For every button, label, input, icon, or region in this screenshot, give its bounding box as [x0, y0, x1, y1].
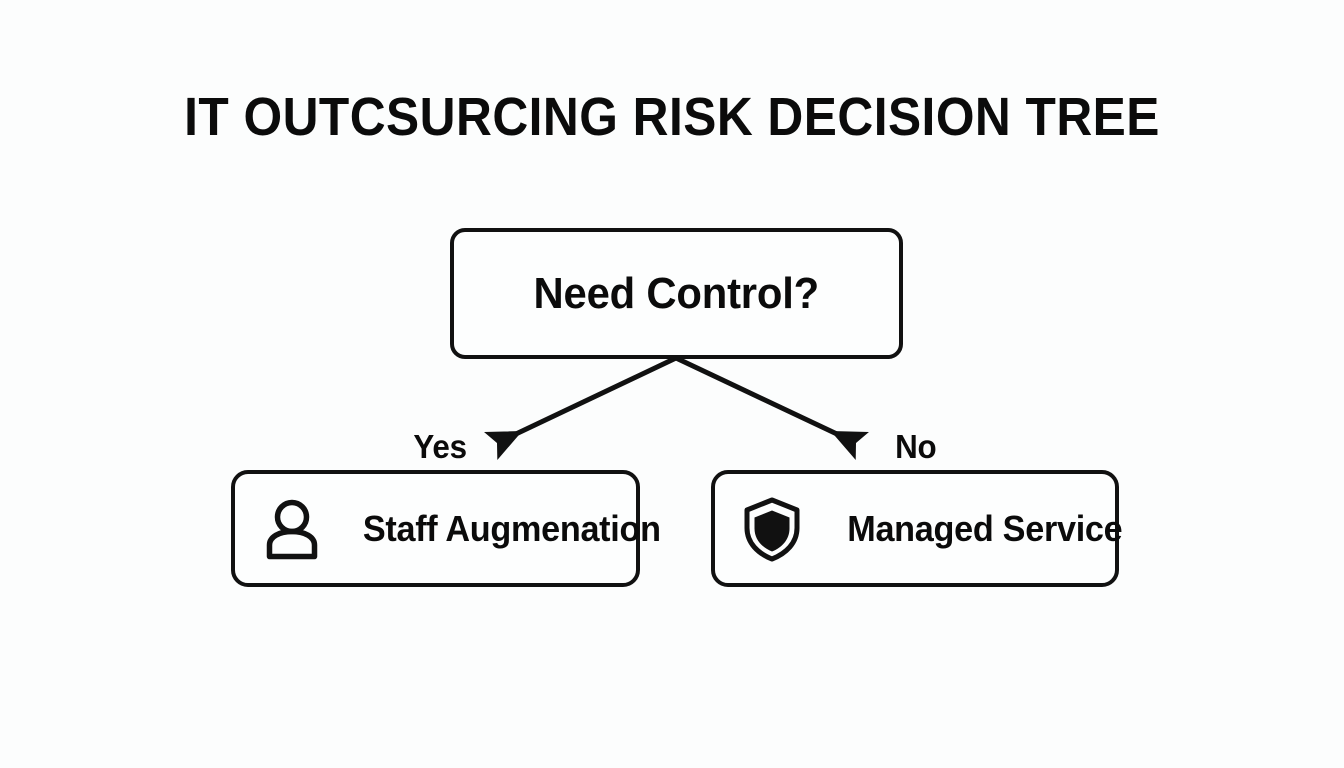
- decision-node-label: Need Control?: [534, 269, 819, 319]
- outcome-node-managed-service[interactable]: Managed Service: [711, 470, 1119, 587]
- person-icon: [261, 496, 323, 562]
- diagram-canvas: IT OUTCSURCING RISK DECISION TREE Need C…: [0, 0, 1344, 768]
- edge-no-arrow: [676, 358, 856, 443]
- outcome-node-label: Managed Service: [847, 508, 1122, 550]
- edge-yes-arrow: [497, 358, 676, 443]
- page-title: IT OUTCSURCING RISK DECISION TREE: [54, 86, 1290, 148]
- branch-label-no: No: [895, 428, 936, 466]
- shield-icon: [741, 496, 803, 562]
- branch-label-yes: Yes: [413, 428, 466, 466]
- outcome-node-staff-augmentation[interactable]: Staff Augmenation: [231, 470, 640, 587]
- decision-node-need-control[interactable]: Need Control?: [450, 228, 903, 359]
- outcome-node-label: Staff Augmenation: [363, 508, 661, 550]
